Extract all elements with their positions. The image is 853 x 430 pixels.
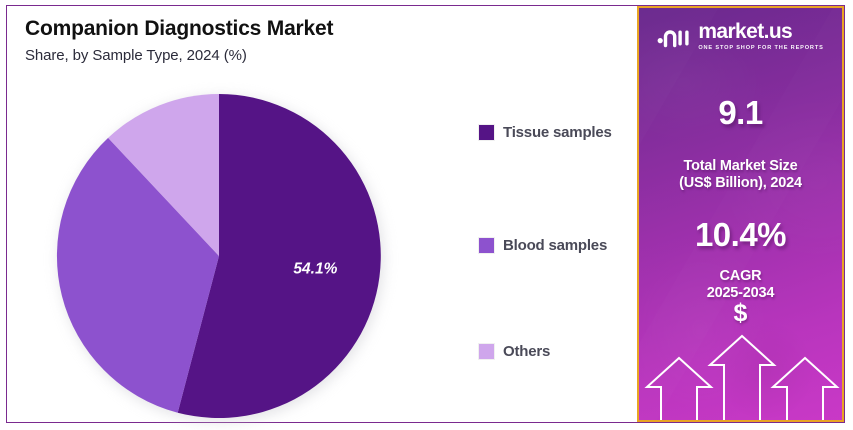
pie-slice-label-tissue-samples: 54.1%	[293, 261, 337, 278]
legend-label-others: Others	[503, 343, 550, 360]
logo-tagline: ONE STOP SHOP FOR THE REPORTS	[698, 45, 823, 51]
arrow-up-middle	[710, 336, 774, 420]
market-size-value: 9.1	[639, 94, 842, 132]
logo-wordmark: market.us	[698, 21, 792, 42]
market-us-logo-mark	[657, 24, 691, 48]
chart-subtitle: Share, by Sample Type, 2024 (%)	[25, 47, 247, 64]
arrow-up-right	[773, 358, 837, 420]
brand-stats-panel: market.us ONE STOP SHOP FOR THE REPORTS …	[637, 6, 844, 422]
arrow-up-left	[647, 358, 711, 420]
legend-item-blood-samples[interactable]: Blood samples	[479, 237, 607, 254]
market-size-caption-line1: Total Market Size	[639, 158, 842, 175]
market-size-caption-line2: (US$ Billion), 2024	[639, 175, 842, 192]
legend-swatch-blood-samples	[479, 238, 494, 253]
dollar-sign-icon: $	[639, 301, 842, 326]
market-us-logo[interactable]: market.us ONE STOP SHOP FOR THE REPORTS	[639, 21, 842, 51]
cagr-caption-line1: CAGR	[639, 268, 842, 285]
market-size-caption: Total Market Size (US$ Billion), 2024	[639, 158, 842, 192]
legend-label-tissue-samples: Tissue samples	[503, 124, 612, 141]
growth-arrows-graphic: $	[639, 295, 842, 420]
legend-item-others[interactable]: Others	[479, 343, 550, 360]
chart-area: Companion Diagnostics Market Share, by S…	[7, 6, 636, 422]
legend-item-tissue-samples[interactable]: Tissue samples	[479, 124, 612, 141]
infographic-card: Companion Diagnostics Market Share, by S…	[6, 5, 845, 423]
pie-chart-svg: 54.1%	[51, 86, 391, 426]
legend-swatch-tissue-samples	[479, 125, 494, 140]
legend-label-blood-samples: Blood samples	[503, 237, 607, 254]
legend-swatch-others	[479, 344, 494, 359]
page-title: Companion Diagnostics Market	[25, 17, 333, 41]
cagr-value: 10.4%	[639, 216, 842, 254]
pie-chart: 54.1%	[51, 86, 391, 426]
pie-slices	[57, 94, 381, 418]
